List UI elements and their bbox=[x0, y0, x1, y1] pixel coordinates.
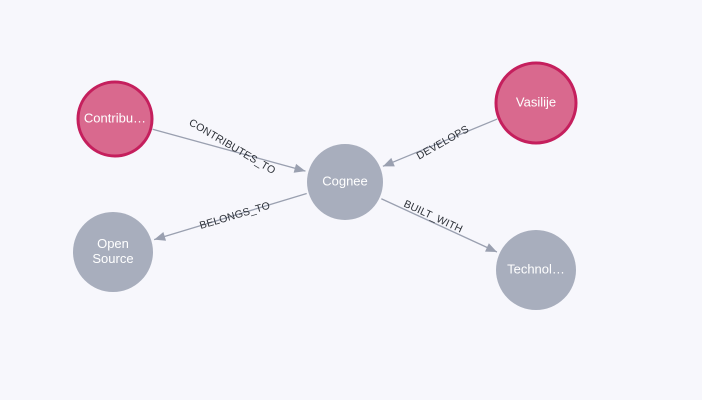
edge-line-built-with bbox=[381, 199, 497, 252]
arrowhead-develops bbox=[383, 158, 395, 167]
node-open-source[interactable]: OpenSource bbox=[73, 212, 153, 292]
node-circle-cognee[interactable] bbox=[307, 144, 383, 220]
edge-built-with[interactable] bbox=[381, 199, 497, 252]
graph-visualization[interactable]: Contribu…VasilijeCogneeOpenSourceTechnol… bbox=[0, 0, 702, 400]
node-circle-open-source[interactable] bbox=[73, 212, 153, 292]
edge-develops[interactable] bbox=[383, 119, 497, 166]
node-vasilije[interactable]: Vasilije bbox=[496, 63, 576, 143]
node-technology[interactable]: Technol… bbox=[496, 230, 576, 310]
nodes-layer: Contribu…VasilijeCogneeOpenSourceTechnol… bbox=[73, 63, 576, 310]
arrowhead-belongs-to bbox=[154, 232, 166, 241]
edge-line-belongs-to bbox=[154, 194, 307, 240]
edge-contributes-to[interactable] bbox=[153, 129, 306, 172]
node-circle-technology[interactable] bbox=[496, 230, 576, 310]
arrowhead-contributes-to bbox=[294, 164, 306, 173]
node-cognee[interactable]: Cognee bbox=[307, 144, 383, 220]
node-circle-contributor[interactable] bbox=[78, 82, 152, 156]
graph-canvas[interactable]: Contribu…VasilijeCogneeOpenSourceTechnol… bbox=[0, 0, 702, 400]
node-contributor[interactable]: Contribu… bbox=[78, 82, 152, 156]
edge-line-develops bbox=[383, 119, 497, 166]
edge-belongs-to[interactable] bbox=[154, 194, 307, 241]
edge-label-develops: DEVELOPS bbox=[415, 123, 472, 162]
edge-line-contributes-to bbox=[153, 129, 306, 171]
node-circle-vasilije[interactable] bbox=[496, 63, 576, 143]
edge-label-contributes-to: CONTRIBUTES_TO bbox=[187, 117, 278, 177]
edge-label-built-with: BUILT_WITH bbox=[402, 198, 465, 236]
